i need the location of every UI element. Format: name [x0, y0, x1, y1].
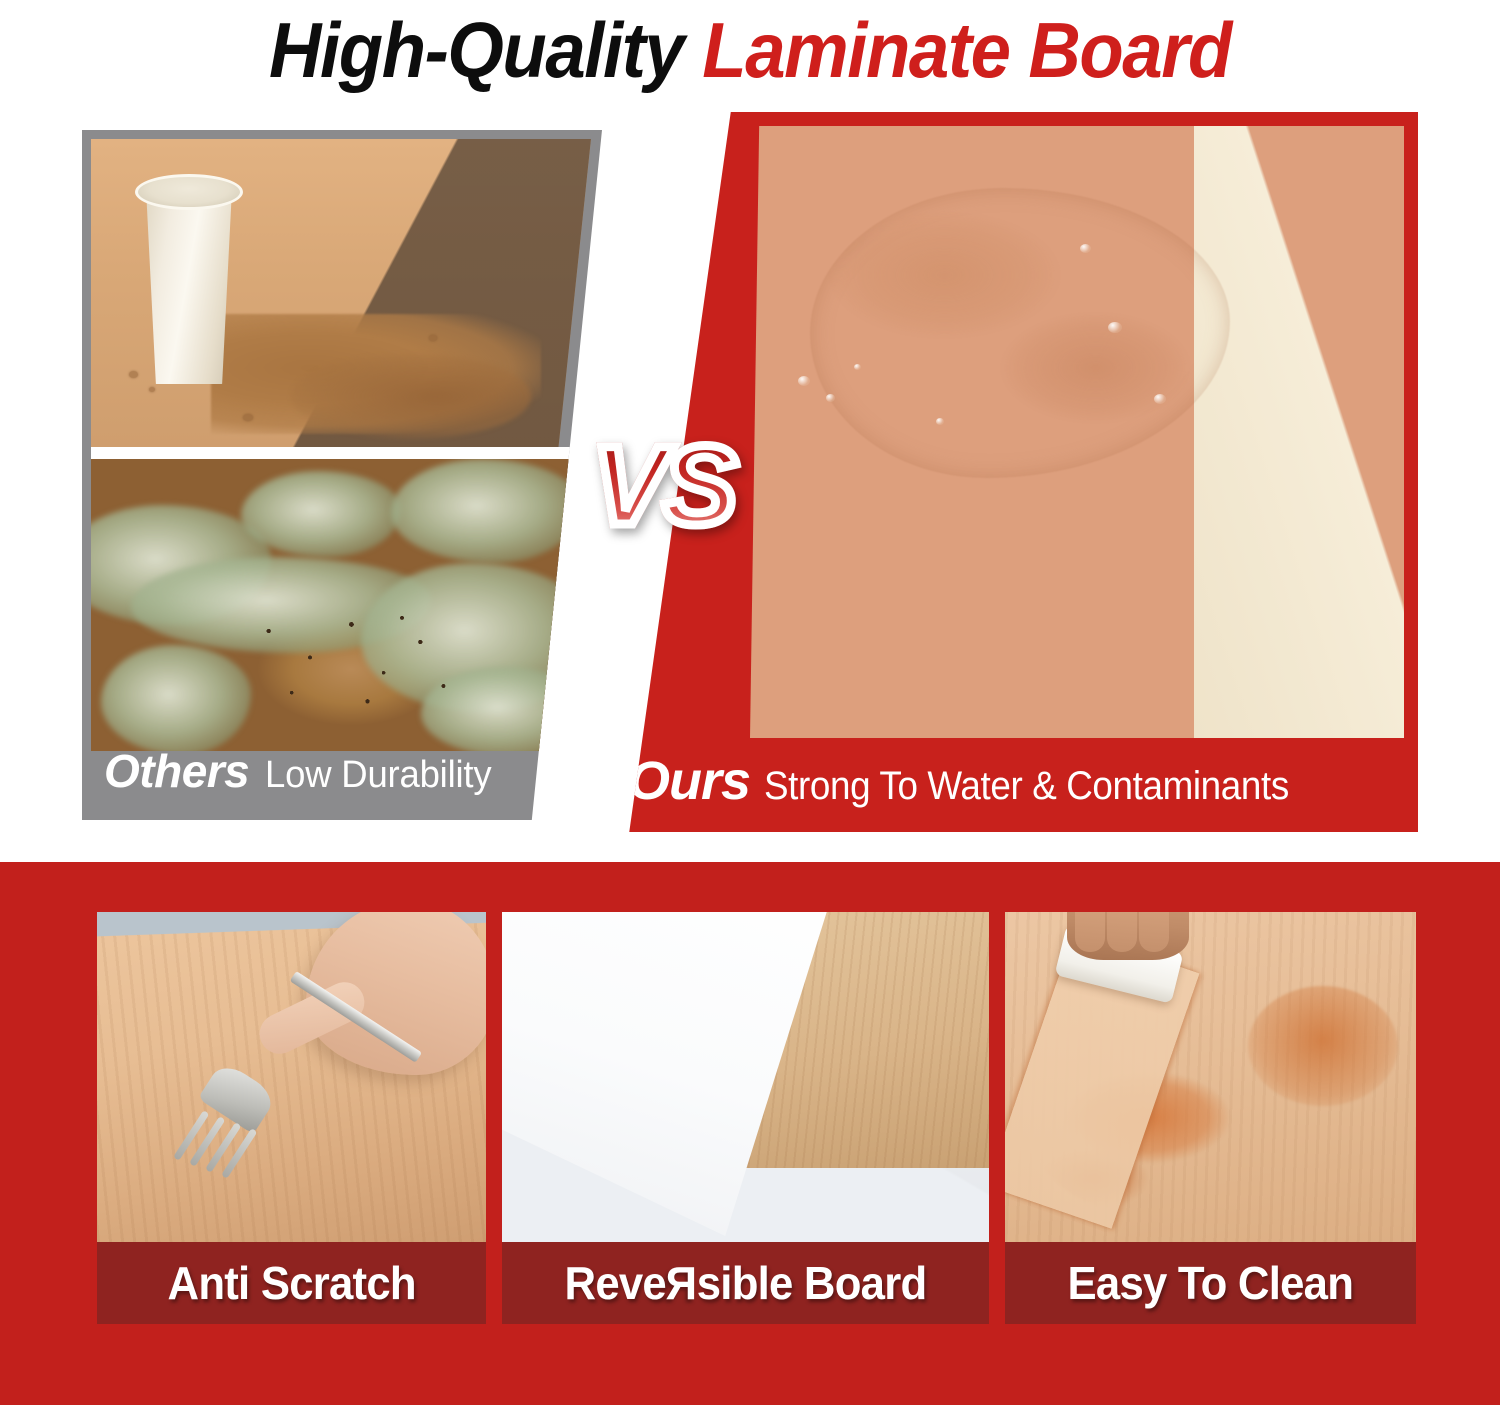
others-top-photo: [91, 139, 591, 447]
product-feature-infographic: High-Quality Laminate Board: [0, 0, 1500, 1405]
fork-tine: [173, 1110, 209, 1161]
mold-specks: [241, 609, 471, 719]
feature-card-reversible: ReveRsible Board: [502, 912, 989, 1324]
others-bottom-photo: [91, 459, 591, 751]
anti-scratch-caption-text: Anti Scratch: [167, 1256, 415, 1310]
ours-photo: [750, 126, 1404, 738]
reversible-photo: [502, 912, 989, 1242]
water-puddle: [810, 188, 1230, 478]
ours-label: Ours: [628, 750, 750, 812]
water-bead: [854, 364, 861, 370]
easy-clean-caption-text: Easy To Clean: [1068, 1256, 1354, 1310]
water-bead: [1108, 322, 1122, 333]
others-media: [91, 139, 602, 751]
reversible-caption-text: ReveRsible Board: [565, 1256, 927, 1310]
feature-card-anti-scratch: Anti Scratch: [97, 912, 486, 1324]
anti-scratch-photo: [97, 912, 486, 1242]
board-edge: [1194, 126, 1404, 738]
water-bead: [1080, 244, 1091, 253]
ours-subtitle: Strong To Water & Contaminants: [764, 764, 1289, 809]
mold-patch: [241, 471, 401, 557]
droplet-icon: [149, 387, 155, 392]
others-caption: Others Low Durability: [104, 744, 501, 804]
others-panel: Others Low Durability: [82, 130, 602, 820]
water-bead: [1154, 394, 1166, 404]
liquid-spill-inner: [291, 354, 531, 439]
ours-caption: Ours Strong To Water & Contaminants: [628, 750, 1335, 822]
mirrored-r-glyph: R: [666, 1256, 697, 1310]
water-bead: [826, 394, 835, 402]
reversible-caption: ReveRsible Board: [502, 1242, 989, 1324]
headline-part-1: High-Quality: [269, 6, 683, 94]
feature-card-easy-clean: Easy To Clean: [1005, 912, 1416, 1324]
page-title: High-Quality Laminate Board: [53, 4, 1448, 96]
mold-patch: [391, 459, 581, 563]
mold-patch: [101, 645, 251, 751]
paper-cup-rim: [135, 174, 243, 210]
others-label: Others: [104, 744, 249, 798]
easy-clean-caption: Easy To Clean: [1005, 1242, 1416, 1324]
photo-divider: [91, 447, 591, 459]
others-subtitle: Low Durability: [265, 754, 491, 797]
droplet-icon: [243, 414, 253, 421]
feature-card-list: Anti Scratch ReveRsible Board: [97, 912, 1416, 1324]
paper-cup: [143, 184, 235, 384]
droplet-icon: [129, 371, 138, 378]
finger: [1107, 912, 1137, 952]
vs-badge: VS: [592, 430, 733, 542]
easy-clean-photo: [1005, 912, 1416, 1242]
comparison-section: Others Low Durability Ours Strong To Wat…: [0, 112, 1500, 832]
anti-scratch-caption: Anti Scratch: [97, 1242, 486, 1324]
water-bead: [936, 418, 944, 425]
finger: [1075, 912, 1105, 952]
water-bead: [798, 376, 810, 386]
sauce-stain: [1248, 986, 1398, 1106]
droplet-icon: [429, 335, 437, 341]
finger: [1139, 912, 1169, 952]
features-panel: Anti Scratch ReveRsible Board: [0, 862, 1500, 1405]
headline-part-2: Laminate Board: [702, 6, 1231, 94]
